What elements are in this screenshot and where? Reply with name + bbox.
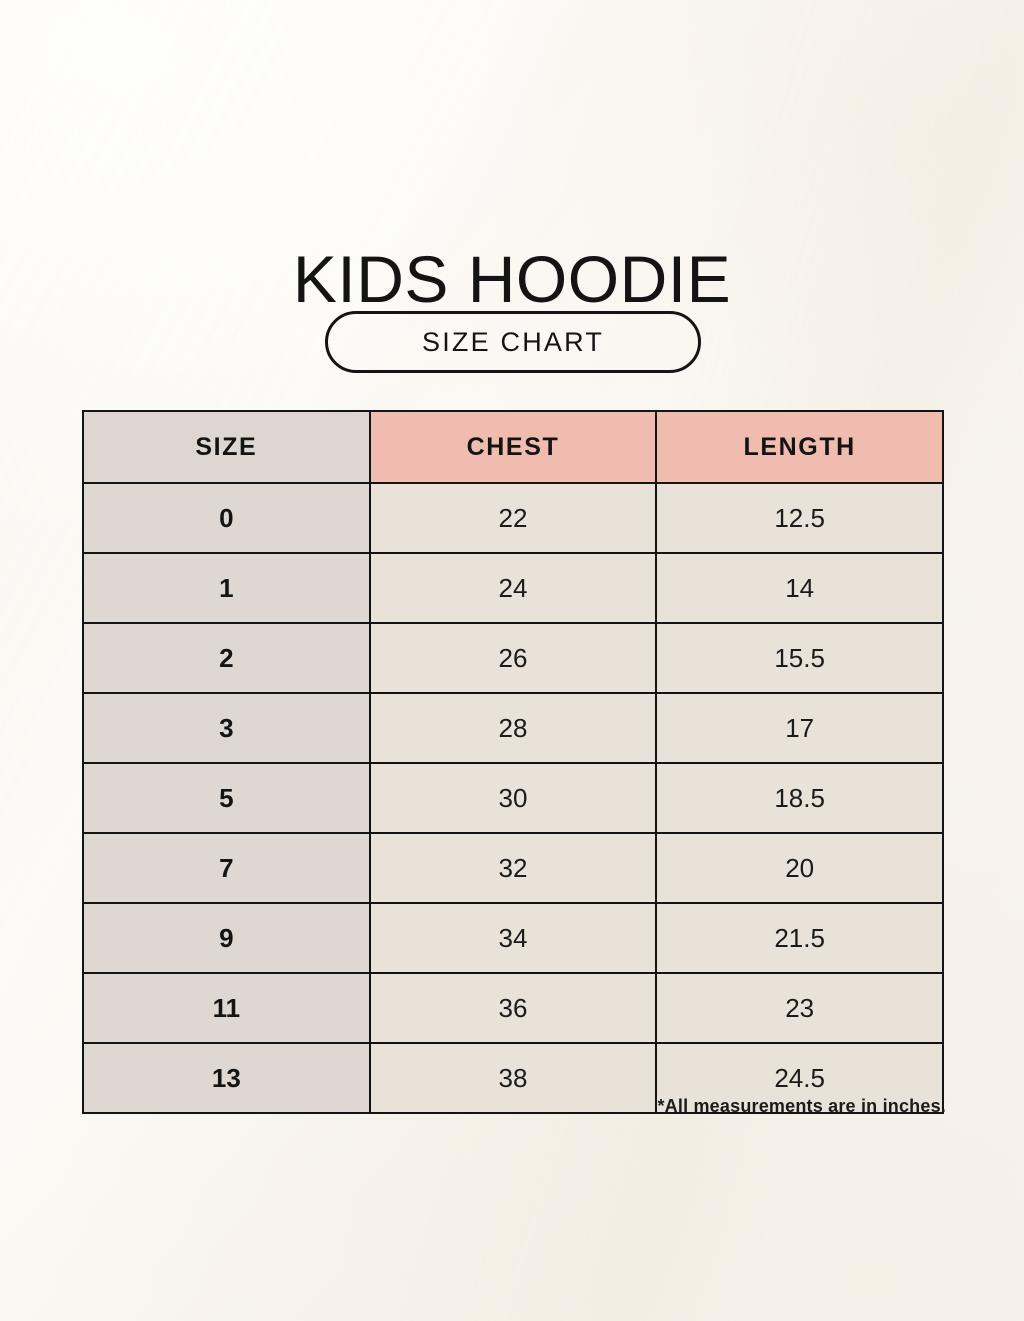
size-table-body: 02212.51241422615.53281753018.5732209342…: [83, 483, 943, 1113]
cell-chest: 34: [370, 903, 657, 973]
size-table-head: SIZE CHEST LENGTH: [83, 411, 943, 483]
cell-size: 0: [83, 483, 370, 553]
cell-chest: 22: [370, 483, 657, 553]
cell-chest: 26: [370, 623, 657, 693]
size-chart-badge: SIZE CHART: [325, 311, 701, 373]
size-chart-badge-label: SIZE CHART: [422, 327, 604, 358]
column-header-chest: CHEST: [370, 411, 657, 483]
cell-length: 21.5: [656, 903, 943, 973]
cell-size: 11: [83, 973, 370, 1043]
table-row: 73220: [83, 833, 943, 903]
measurement-note: *All measurements are in inches.: [82, 1096, 946, 1117]
cell-chest: 36: [370, 973, 657, 1043]
cell-length: 17: [656, 693, 943, 763]
table-row: 113623: [83, 973, 943, 1043]
size-table-container: SIZE CHEST LENGTH 02212.51241422615.5328…: [82, 410, 944, 1114]
cell-length: 14: [656, 553, 943, 623]
cell-chest: 28: [370, 693, 657, 763]
column-header-size: SIZE: [83, 411, 370, 483]
column-header-length: LENGTH: [656, 411, 943, 483]
cell-length: 18.5: [656, 763, 943, 833]
cell-chest: 32: [370, 833, 657, 903]
cell-length: 23: [656, 973, 943, 1043]
size-table: SIZE CHEST LENGTH 02212.51241422615.5328…: [82, 410, 944, 1114]
cell-length: 12.5: [656, 483, 943, 553]
cell-size: 7: [83, 833, 370, 903]
cell-length: 15.5: [656, 623, 943, 693]
table-row: 02212.5: [83, 483, 943, 553]
table-row: 22615.5: [83, 623, 943, 693]
cell-length: 20: [656, 833, 943, 903]
cell-size: 9: [83, 903, 370, 973]
size-chart-page: KIDS HOODIE SIZE CHART SIZE CHEST LENGTH…: [0, 0, 1024, 1321]
cell-size: 5: [83, 763, 370, 833]
cell-size: 1: [83, 553, 370, 623]
cell-size: 2: [83, 623, 370, 693]
table-row: 53018.5: [83, 763, 943, 833]
cell-size: 3: [83, 693, 370, 763]
cell-chest: 30: [370, 763, 657, 833]
table-row: 32817: [83, 693, 943, 763]
table-row: 12414: [83, 553, 943, 623]
table-row: 93421.5: [83, 903, 943, 973]
cell-chest: 24: [370, 553, 657, 623]
page-title: KIDS HOODIE: [0, 242, 1024, 316]
table-header-row: SIZE CHEST LENGTH: [83, 411, 943, 483]
